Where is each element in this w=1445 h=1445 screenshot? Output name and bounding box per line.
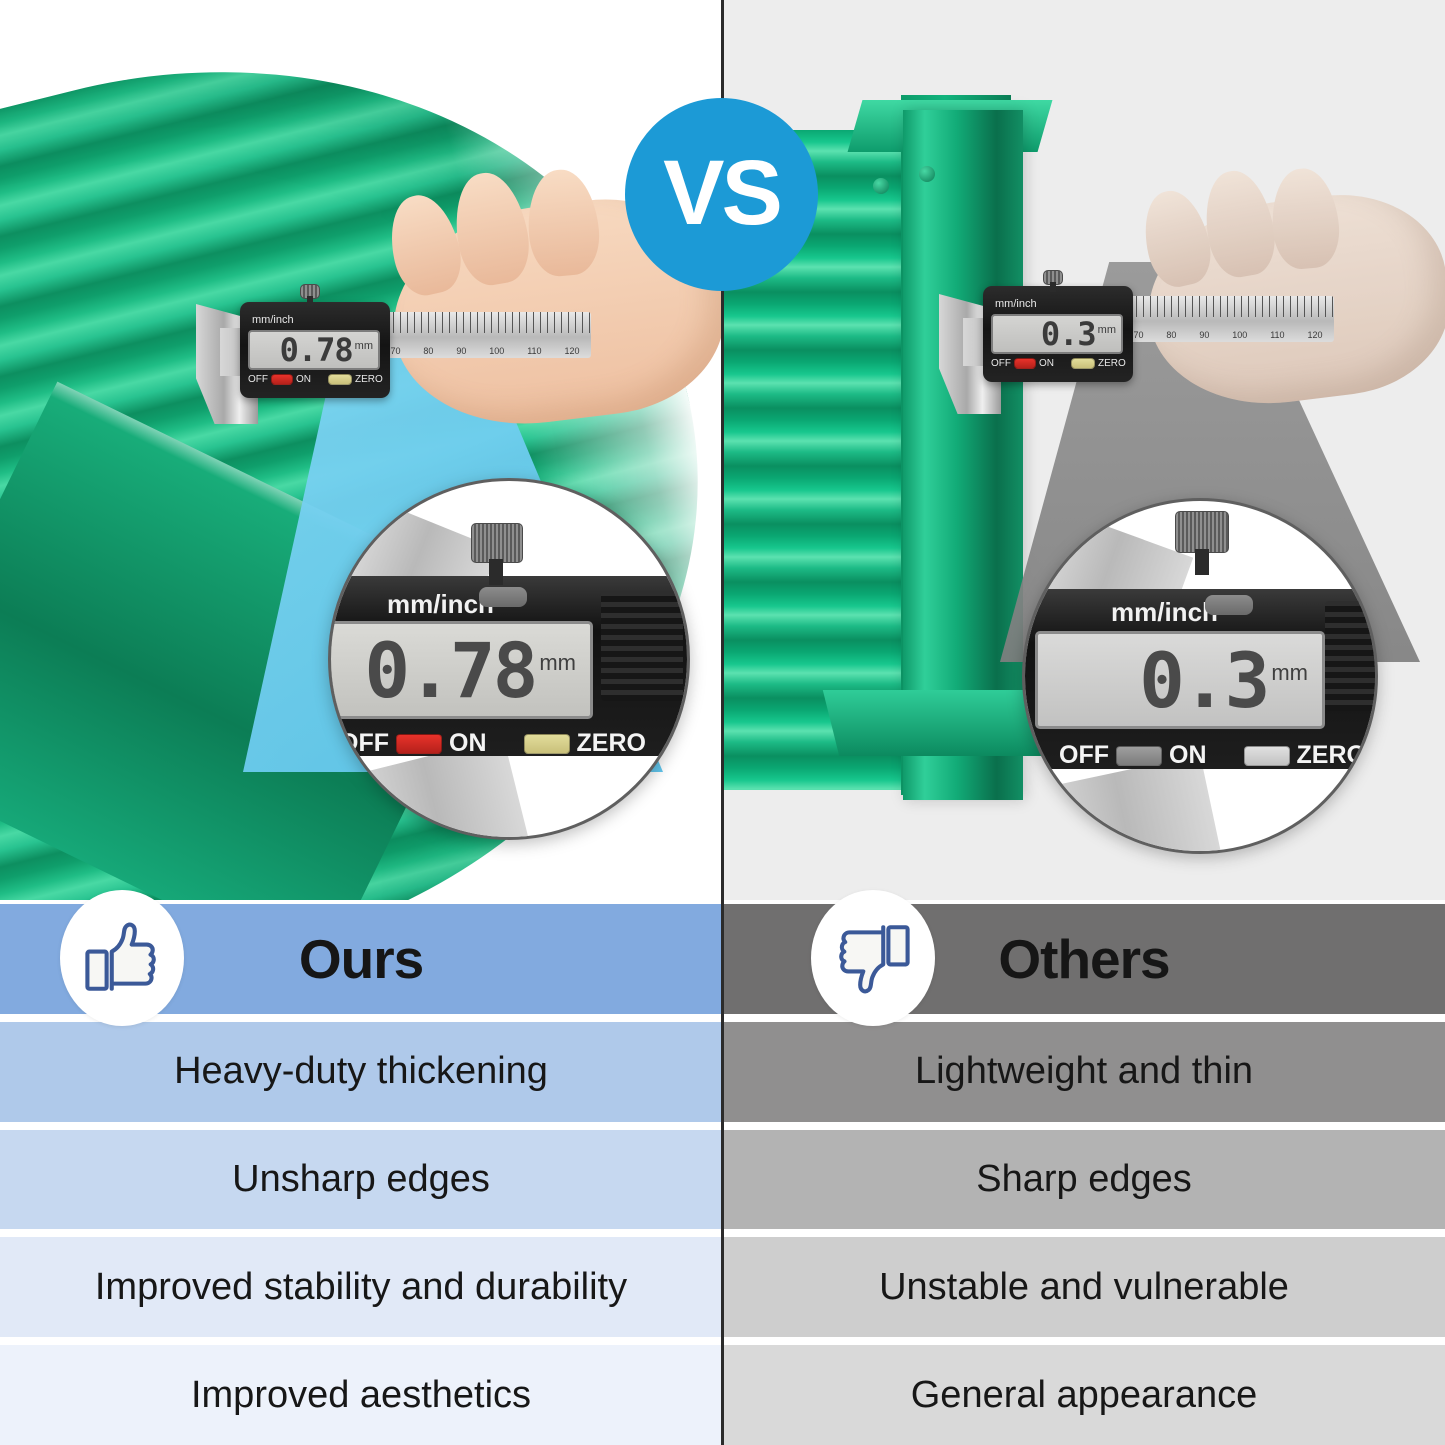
mag-left-unit-button[interactable] bbox=[479, 587, 527, 607]
right-caliper-zero-switch[interactable] bbox=[1071, 358, 1095, 369]
scale-num: 100 bbox=[1232, 330, 1247, 340]
others-bolt bbox=[919, 166, 935, 182]
left-caliper-off: OFF bbox=[248, 374, 268, 385]
hero-photo-area: 70 80 90 100 110 120 mm/inch 0.78 mm bbox=[0, 0, 1445, 900]
mag-left-reading: 0.78 bbox=[364, 626, 535, 715]
left-caliper-knob-stem bbox=[307, 296, 313, 306]
scale-num: 100 bbox=[489, 346, 504, 356]
mag-right-mmlabel: mm/inch bbox=[1111, 597, 1218, 628]
scale-num: 80 bbox=[423, 346, 433, 356]
left-caliper-scale: 70 80 90 100 110 120 bbox=[379, 312, 591, 358]
scale-num: 120 bbox=[1308, 330, 1323, 340]
mag-left-on-switch[interactable] bbox=[396, 734, 442, 754]
left-caliper-scale-numbers: 70 80 90 100 110 120 bbox=[379, 346, 591, 356]
scale-num: 110 bbox=[1270, 330, 1284, 340]
scale-num: 110 bbox=[527, 346, 541, 356]
right-caliper-reading: 0.3 bbox=[1041, 315, 1096, 353]
others-feature-label: General appearance bbox=[911, 1374, 1257, 1417]
thumbs-up-badge bbox=[60, 890, 184, 1026]
ours-title: Ours bbox=[299, 927, 423, 991]
others-feature-row-4: General appearance bbox=[723, 1345, 1445, 1445]
right-caliper-mmlabel: mm/inch bbox=[995, 298, 1037, 310]
mag-left-lcd: 0.78 mm bbox=[328, 621, 593, 719]
ours-feature-row-3: Improved stability and durability bbox=[0, 1237, 722, 1337]
mag-left-off-label: OFF bbox=[339, 729, 389, 758]
right-caliper-knob-stem bbox=[1050, 282, 1056, 292]
mag-right-button-row: OFF ON ZERO bbox=[1059, 741, 1366, 770]
ours-feature-label: Heavy-duty thickening bbox=[174, 1050, 548, 1093]
mag-right-ridges bbox=[1325, 601, 1378, 711]
right-caliper-scale: 70 80 90 100 110 120 bbox=[1122, 296, 1334, 342]
right-magnifier-circle: mm/inch 0.3 mm OFF ON ZERO bbox=[1022, 498, 1378, 854]
others-feature-label: Unstable and vulnerable bbox=[879, 1266, 1289, 1309]
hero-left-panel: 70 80 90 100 110 120 mm/inch 0.78 mm bbox=[0, 0, 722, 900]
left-caliper-unit: mm bbox=[355, 340, 373, 352]
mag-right-lcd: 0.3 mm bbox=[1035, 631, 1325, 729]
left-caliper-zero: ZERO bbox=[355, 374, 383, 385]
table-center-divider bbox=[721, 900, 724, 1445]
mag-left-mmlabel: mm/inch bbox=[387, 589, 494, 620]
others-title: Others bbox=[998, 927, 1169, 991]
others-feature-row-2: Sharp edges bbox=[723, 1130, 1445, 1230]
mag-right-off-label: OFF bbox=[1059, 741, 1109, 770]
mag-left-ridges bbox=[601, 591, 683, 701]
mag-right-on-label: ON bbox=[1169, 741, 1207, 770]
comparison-infographic: 70 80 90 100 110 120 mm/inch 0.78 mm bbox=[0, 0, 1445, 1445]
ours-feature-row-2: Unsharp edges bbox=[0, 1130, 722, 1230]
mag-right-thumb-knob bbox=[1175, 511, 1229, 553]
mag-left-thumb-knob bbox=[471, 523, 523, 563]
mag-left-button-row: OFF ON ZERO bbox=[339, 729, 646, 758]
right-caliper-off: OFF bbox=[991, 358, 1011, 369]
mag-right-unit: mm bbox=[1271, 660, 1308, 686]
others-feature-row-1: Lightweight and thin bbox=[723, 1022, 1445, 1122]
ours-feature-row-1: Heavy-duty thickening bbox=[0, 1022, 722, 1122]
comparison-table: Ours Heavy-duty thickening Unsharp edges… bbox=[0, 900, 1445, 1445]
mag-left-unit: mm bbox=[539, 650, 576, 676]
mag-left-on-label: ON bbox=[449, 729, 487, 758]
scale-num: 90 bbox=[1199, 330, 1209, 340]
thumbs-up-icon bbox=[81, 917, 163, 999]
thumbs-down-badge bbox=[811, 890, 935, 1026]
mag-right-knob-stem bbox=[1195, 549, 1209, 575]
left-caliper-reading: 0.78 bbox=[280, 331, 353, 369]
scale-num: 90 bbox=[456, 346, 466, 356]
ours-header-band: Ours bbox=[0, 904, 722, 1014]
right-caliper-lcd: 0.3 mm bbox=[991, 314, 1123, 354]
others-feature-label: Lightweight and thin bbox=[915, 1050, 1253, 1093]
others-bolt bbox=[873, 178, 889, 194]
others-feature-row-3: Unstable and vulnerable bbox=[723, 1237, 1445, 1337]
scale-num: 80 bbox=[1166, 330, 1176, 340]
ours-feature-label: Unsharp edges bbox=[232, 1158, 490, 1201]
hero-right-panel: 70 80 90 100 110 120 mm/inch 0.3 mm bbox=[723, 0, 1445, 900]
vs-badge: VS bbox=[625, 98, 818, 291]
right-caliper-on: ON bbox=[1039, 358, 1054, 369]
mag-left-zero-label: ZERO bbox=[577, 729, 646, 758]
ours-column: Ours Heavy-duty thickening Unsharp edges… bbox=[0, 900, 722, 1445]
mag-right-zero-label: ZERO bbox=[1297, 741, 1366, 770]
right-caliper-unit: mm bbox=[1098, 324, 1116, 336]
left-caliper-zero-switch[interactable] bbox=[328, 374, 352, 385]
mag-left-knob-stem bbox=[489, 559, 503, 585]
mag-right-zero-switch[interactable] bbox=[1244, 746, 1290, 766]
mag-right-on-switch[interactable] bbox=[1116, 746, 1162, 766]
right-caliper-zero: ZERO bbox=[1098, 358, 1126, 369]
scale-num: 70 bbox=[1133, 330, 1143, 340]
ours-feature-label: Improved aesthetics bbox=[191, 1374, 531, 1417]
vs-badge-label: VS bbox=[663, 147, 780, 239]
left-caliper: 70 80 90 100 110 120 mm/inch 0.78 mm bbox=[196, 282, 596, 412]
left-magnifier-circle: mm/inch 0.78 mm OFF ON ZERO bbox=[328, 478, 690, 840]
mag-left-zero-switch[interactable] bbox=[524, 734, 570, 754]
right-caliper-scale-numbers: 70 80 90 100 110 120 bbox=[1122, 330, 1334, 340]
ours-feature-label: Improved stability and durability bbox=[95, 1266, 627, 1309]
left-caliper-mmlabel: mm/inch bbox=[252, 314, 294, 326]
scale-num: 120 bbox=[565, 346, 580, 356]
others-header-band: Others bbox=[723, 904, 1445, 1014]
left-caliper-on: ON bbox=[296, 374, 311, 385]
mag-right-reading: 0.3 bbox=[1139, 636, 1267, 725]
thumbs-down-icon bbox=[832, 917, 914, 999]
left-caliper-lcd: 0.78 mm bbox=[248, 330, 380, 370]
ours-feature-row-4: Improved aesthetics bbox=[0, 1345, 722, 1445]
scale-num: 70 bbox=[390, 346, 400, 356]
right-caliper-on-switch[interactable] bbox=[1014, 358, 1036, 369]
right-caliper: 70 80 90 100 110 120 mm/inch 0.3 mm bbox=[939, 272, 1339, 402]
mag-right-unit-button[interactable] bbox=[1205, 595, 1253, 615]
others-column: Others Lightweight and thin Sharp edges … bbox=[723, 900, 1445, 1445]
others-feature-label: Sharp edges bbox=[976, 1158, 1192, 1201]
left-caliper-on-switch[interactable] bbox=[271, 374, 293, 385]
